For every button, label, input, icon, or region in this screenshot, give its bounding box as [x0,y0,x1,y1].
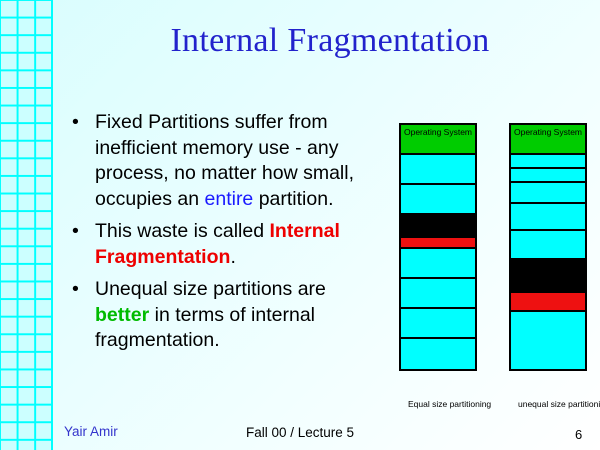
memory-block-free [511,183,585,204]
memory-block-fragmentation [401,238,475,249]
memory-block-fragmentation [511,293,585,312]
bullet-marker-icon: • [72,219,79,245]
memory-block-free [511,231,585,260]
os-block-label: Operating System [511,127,585,138]
os-block-label: Operating System [401,127,475,138]
memory-block-free [511,169,585,183]
memory-block-allocated [511,260,585,293]
bullet-text-segment: better [95,304,149,326]
bullet-text-segment: entire [205,188,254,210]
memory-block-free [511,312,585,369]
bullet-text-segment: . [230,246,235,268]
bullet-item: •Fixed Partitions suffer from inefficien… [68,110,378,212]
footer-page-number: 6 [575,427,582,442]
memory-block-os: Operating System [401,125,475,155]
memory-block-free [511,204,585,231]
memory-block-allocated [401,215,475,238]
bullet-text-segment: partition. [253,188,333,210]
memory-block-free [401,185,475,215]
memory-block-free [401,279,475,309]
bullet-list: •Fixed Partitions suffer from inefficien… [68,110,378,361]
bullet-item: •This waste is called Internal Fragmenta… [68,219,378,270]
memory-block-free [511,155,585,169]
bullet-marker-icon: • [72,277,79,303]
memory-column: Operating System [399,123,477,371]
memory-column: Operating System [509,123,587,371]
memory-block-free [401,339,475,369]
bullet-item: •Unequal size partitions are better in t… [68,277,378,354]
memory-diagram-caption: Equal size partitioning [408,399,508,410]
memory-diagram-caption: unequal size partitioning [518,399,600,410]
footer-author: Yair Amir [64,424,118,439]
bullet-text-segment: This waste is called [95,220,269,242]
memory-block-os: Operating System [511,125,585,155]
page-title: Internal Fragmentation [60,22,600,60]
memory-block-free [401,309,475,339]
slide-canvas: Internal Fragmentation •Fixed Partitions… [0,0,600,450]
memory-block-free [401,155,475,185]
footer-course: Fall 00 / Lecture 5 [246,425,354,440]
bullet-text-segment: Unequal size partitions are [95,278,326,300]
grid-decoration [0,0,53,450]
memory-block-free [401,249,475,279]
bullet-marker-icon: • [72,110,79,136]
memory-diagram-equal: Operating System Equal size partitioning [399,123,477,371]
memory-diagram-unequal: Operating System unequal size partitioni… [509,123,587,371]
